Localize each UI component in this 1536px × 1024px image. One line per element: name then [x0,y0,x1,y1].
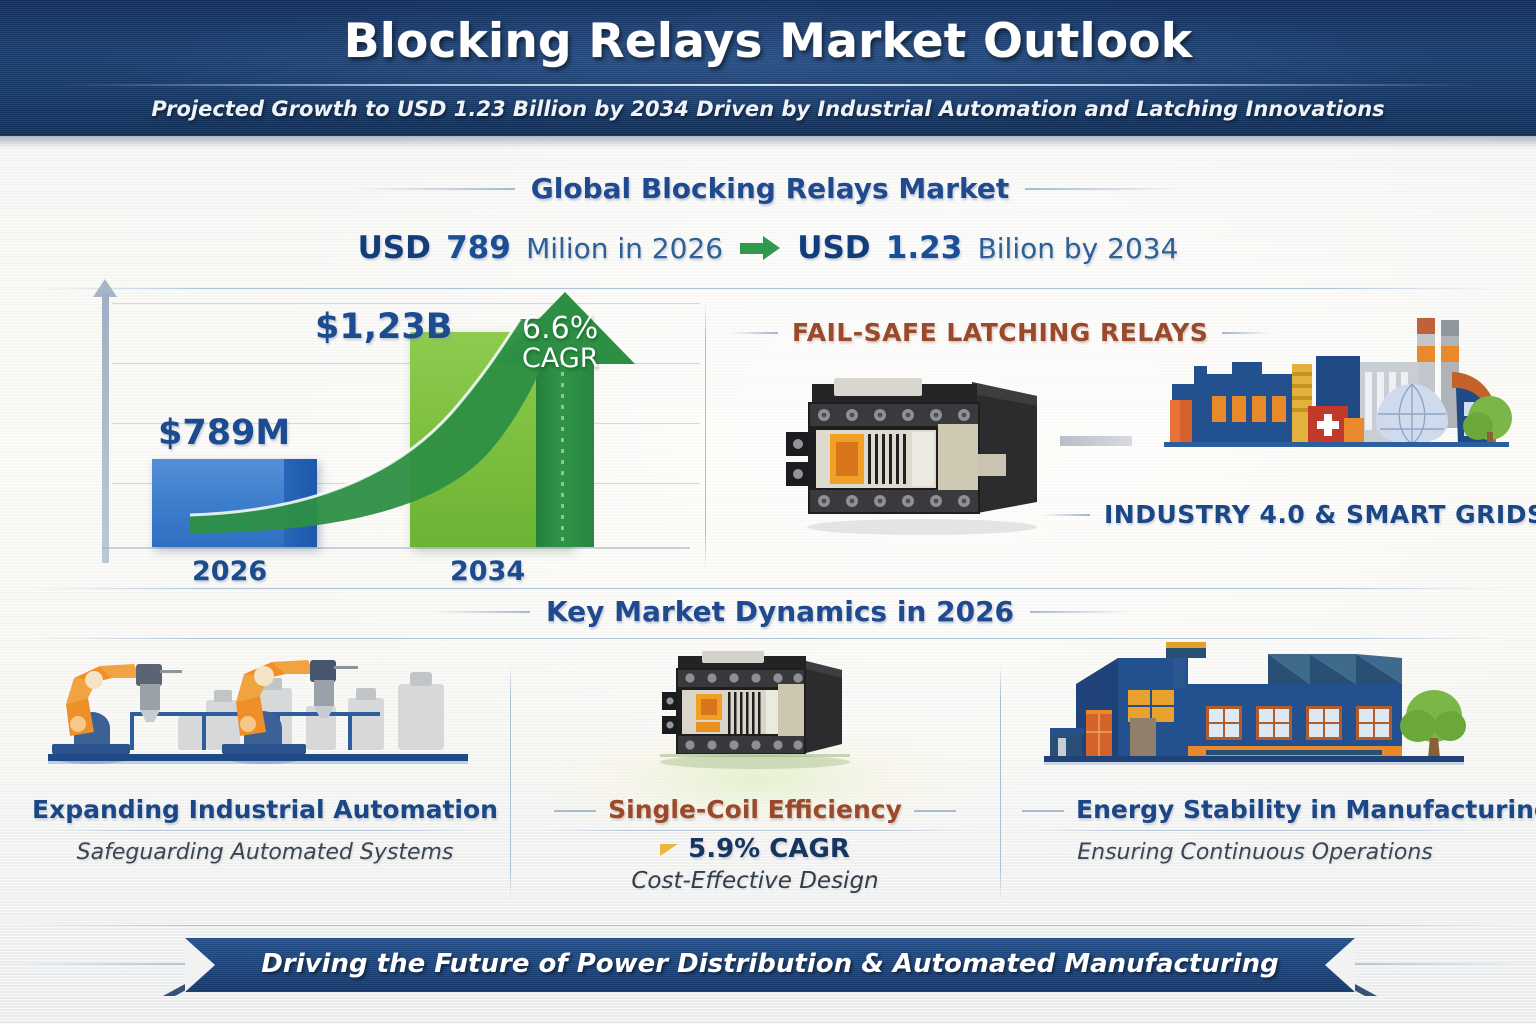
card-title-label: Expanding Industrial Automation [32,795,498,824]
card-subtitle: Ensuring Continuous Operations [1010,840,1500,865]
relay-industry-panel: FAIL-SAFE LATCHING RELAYS [712,300,1522,565]
heading-rule-left [355,188,515,190]
dynamics-card-energy-stability[interactable]: Energy Stability in Manufacturing Ensuri… [1010,640,1500,920]
cagr-value: 6.6% [522,313,632,345]
x-tick-label-2026: 2026 [192,556,267,587]
title-dash-left [554,810,596,812]
header-divider-rule [60,84,1476,86]
card-title-label: Energy Stability in Manufacturing [1076,795,1536,824]
section-heading-market: Global Blocking Relays Market [355,172,1185,205]
heading-rule-right [1025,188,1185,190]
card-title: Single-Coil Efficiency [520,795,990,824]
divider-above-ribbon [28,925,1508,926]
industry-smart-grid-illustration [1112,314,1512,499]
stat-start-value: 789 [446,230,511,266]
footer-ribbon: Driving the Future of Power Distribution… [185,938,1355,992]
heading-rule-right [1030,611,1130,613]
latching-relay-illustration [772,362,1062,537]
robot-arms-conveyor-illustration [30,640,500,770]
caption-rule-left [730,332,778,334]
title-dash-left [1022,810,1064,812]
section-market-label: Global Blocking Relays Market [531,172,1009,205]
headline-stat: USD 789 Milion in 2026 USD 1.23 Bilion b… [0,230,1536,266]
dynamics-card-automation[interactable]: Expanding Industrial Automation Safeguar… [30,640,500,920]
card-subtitle: Safeguarding Automated Systems [30,840,500,865]
growth-arrow-icon [740,236,780,260]
section-dynamics-label: Key Market Dynamics in 2026 [546,595,1014,628]
divider-above-dynamics [28,588,1508,589]
card-metric-value: 5.9% CAGR [688,834,850,864]
ribbon-rule-right [1346,963,1536,965]
divider-card1-card2 [510,665,511,900]
caption-rule-left [1042,514,1090,516]
card-title-label: Single-Coil Efficiency [608,795,902,824]
industry-caption: INDUSTRY 4.0 & SMART GRIDS [1042,500,1536,529]
ribbon-rule-left [0,963,190,965]
cagr-label: CAGR [522,345,632,373]
footer-banner-label: Driving the Future of Power Distribution… [185,949,1355,979]
x-tick-label-2034: 2034 [450,556,525,587]
card-title: Expanding Industrial Automation [30,795,500,824]
infographic-canvas: Blocking Relays Market Outlook Projected… [0,0,1536,1024]
header-banner: Blocking Relays Market Outlook Projected… [0,0,1536,136]
relay-module-photo [520,640,990,770]
page-subtitle: Projected Growth to USD 1.23 Billion by … [0,97,1536,121]
page-title: Blocking Relays Market Outlook [0,14,1536,69]
section-heading-dynamics: Key Market Dynamics in 2026 [430,595,1130,628]
heading-rule-left [430,611,530,613]
card-title: Energy Stability in Manufacturing [1010,795,1500,824]
stat-start-currency: USD [358,230,431,266]
card-metric-caption: Cost-Effective Design [520,868,990,894]
divider-below-dynamics-heading [28,638,1508,639]
cagr-callout: 6.6% CAGR [522,313,632,373]
stat-start-unit: Milion in 2026 [526,232,723,265]
card-rule [46,830,484,831]
stat-end-currency: USD [797,230,870,266]
dynamics-card-single-coil[interactable]: Single-Coil Efficiency 5.9% CAGR Cost-Ef… [520,640,990,920]
stat-end-value: 1.23 [886,230,963,266]
factory-building-illustration [1010,640,1500,770]
card-metric: 5.9% CAGR [520,834,990,864]
triangle-marker-icon [660,844,678,856]
industry-caption-label: INDUSTRY 4.0 & SMART GRIDS [1104,500,1536,529]
card-rule [536,830,974,831]
stat-end-unit: Bilion by 2034 [978,232,1179,265]
y-axis-line [102,293,109,563]
market-growth-bar-chart: 6.6% CAGR $789M $1,23B 2026 2034 [40,285,700,585]
divider-card2-card3 [1000,665,1001,900]
title-dash-right [914,810,956,812]
card-rule [1026,830,1484,831]
header-dropshadow [0,136,1536,148]
divider-vertical-mid [705,300,706,570]
